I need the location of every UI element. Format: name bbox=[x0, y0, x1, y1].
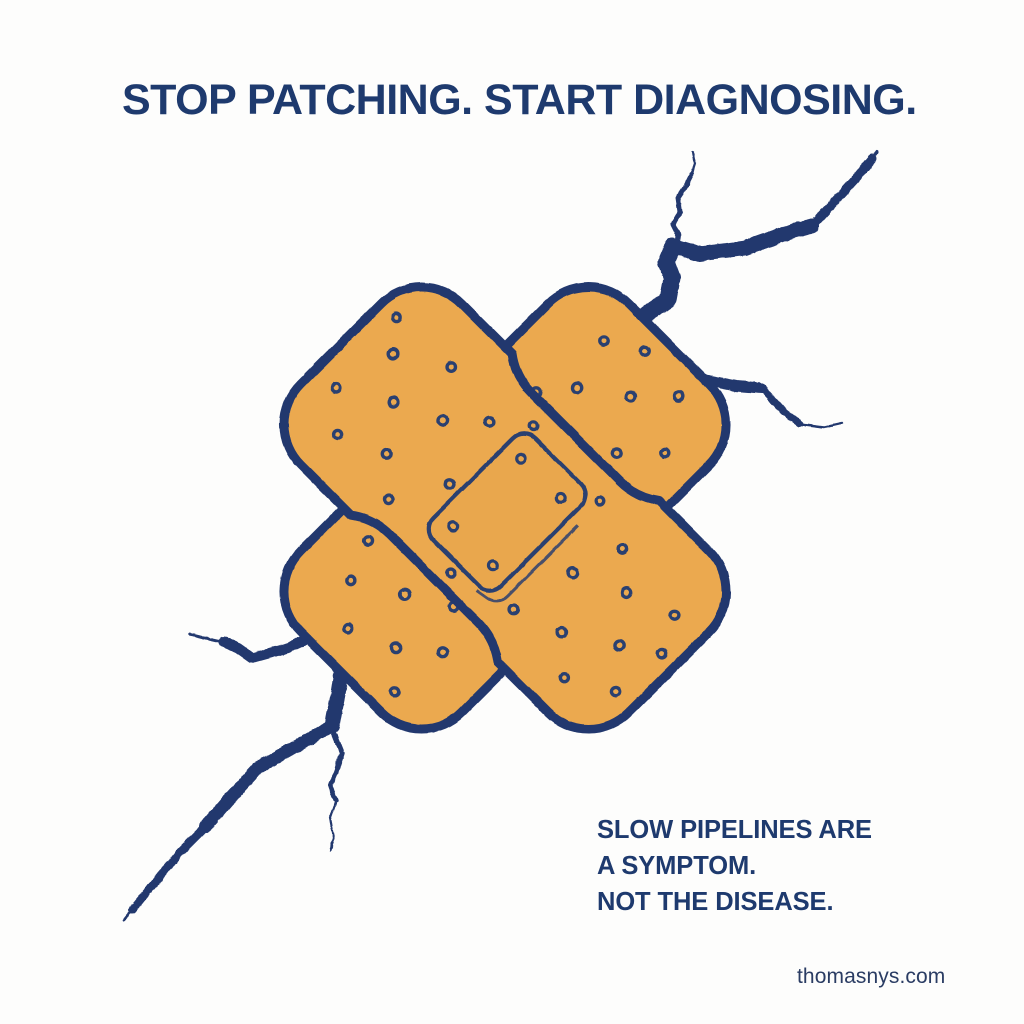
subheadline-line-3: NOT THE DISEASE. bbox=[597, 884, 957, 920]
website-watermark: thomasnys.com bbox=[797, 965, 945, 989]
page-title: STOP PATCHING. START DIAGNOSING. bbox=[122, 79, 922, 122]
subheadline-line-1: SLOW PIPELINES ARE bbox=[597, 812, 957, 848]
poster-canvas: STOP PATCHING. START DIAGNOSING. SLOW PI… bbox=[0, 0, 1024, 1024]
subheadline-line-2: A SYMPTOM. bbox=[597, 848, 957, 884]
subheadline-block: SLOW PIPELINES ARE A SYMPTOM. NOT THE DI… bbox=[597, 812, 957, 920]
